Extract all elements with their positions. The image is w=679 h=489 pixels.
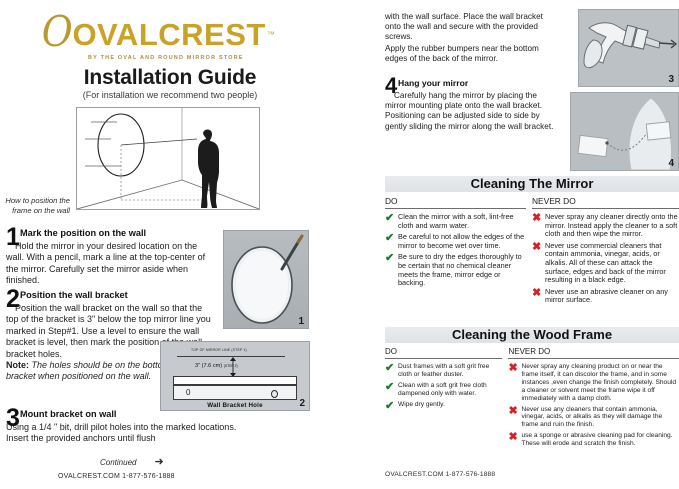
care-item: ✔ Clean the mirror with a soft, lint-fre… <box>385 213 526 230</box>
step-1-number: 1 <box>6 226 20 248</box>
care-mirror-do-column: DO ✔ Clean the mirror with a soft, lint-… <box>385 196 532 308</box>
step-4-body: Carefully hang the mirror by placing the… <box>385 91 557 132</box>
bracket-top-line-label: TOP OF MIRROR LINE (STEP 1) <box>191 348 247 352</box>
check-icon: ✔ <box>385 253 398 287</box>
trademark-icon: ™ <box>267 30 275 39</box>
care-mirror-never-label: NEVER DO <box>532 196 679 208</box>
bracket-dimension-value: 3" (7.6 cm) <box>195 363 222 369</box>
care-item: ✔ Be careful to not allow the edges of t… <box>385 233 526 250</box>
step-2-heading: Position the wall bracket <box>20 290 211 301</box>
care-item: ✔ Wipe dry gently. <box>385 401 502 411</box>
figure-1-svg <box>224 231 308 328</box>
care-mirror-never-column: NEVER DO ✖ Never spray any cleaner direc… <box>532 196 679 308</box>
figure-3-svg <box>579 10 678 86</box>
continued-text: Continued <box>100 458 136 467</box>
care-item: ✖ Never use any cleaners that contain am… <box>508 406 679 430</box>
step-4: 4 Hang your mirror Carefully hang the mi… <box>385 78 557 132</box>
care-item-text: Be sure to dry the edges thoroughly to b… <box>398 253 526 287</box>
care-item-text: use a sponge or abrasive cleaning pad fo… <box>521 432 679 448</box>
care-item: ✖ Never spray any cleaner directly onto … <box>532 213 679 239</box>
care-frame-title: Cleaning the Wood Frame <box>385 327 679 343</box>
care-item-text: Clean the mirror with a soft, lint-free … <box>398 213 526 230</box>
brand-logo: O OVALCREST ™ BY THE OVAL AND ROUND MIRR… <box>40 14 325 64</box>
figure-3-label: 3 <box>668 74 674 85</box>
care-item: ✖ Never spray any cleaning product on or… <box>508 363 679 403</box>
diagram-caption: How to position the frame on the wall <box>2 196 70 216</box>
check-icon: ✔ <box>385 233 398 250</box>
room-position-diagram <box>76 107 260 210</box>
figure-4-hang-mirror-photo: 4 <box>570 92 679 171</box>
cross-icon: ✖ <box>508 406 521 430</box>
step-1-heading: Mark the position on the wall <box>20 228 211 239</box>
check-icon: ✔ <box>385 363 398 379</box>
cross-icon: ✖ <box>508 432 521 448</box>
bracket-hole-caption: Wall Bracket Hole <box>173 402 297 409</box>
care-item-text: Dust frames with a soft grit free cloth … <box>398 363 502 379</box>
figure-4-label: 4 <box>668 158 674 169</box>
care-item: ✔ Dust frames with a soft grit free clot… <box>385 363 502 379</box>
bracket-hole-right-icon <box>271 390 278 398</box>
care-item: ✔ Clean with a soft grit free cloth damp… <box>385 382 502 398</box>
care-item: ✖ Never use an abrasive cleaner on any m… <box>532 288 679 305</box>
care-frame-do-column: DO ✔ Dust frames with a soft grit free c… <box>385 347 508 451</box>
figure-1-label: 1 <box>298 316 304 327</box>
step-2-note-label: Note: <box>6 360 29 370</box>
right-column: with the wall surface. Place the wall br… <box>385 0 679 489</box>
logo-wordmark: OVALCREST <box>72 19 265 50</box>
step-3: 3 Mount bracket on wall Using a 1/4 " bi… <box>6 409 256 445</box>
bracket-bar-bottom: 0 <box>173 385 297 400</box>
figure-4-svg <box>571 93 678 170</box>
page-title: Installation Guide <box>0 66 340 90</box>
figure-2-bracket-diagram: TOP OF MIRROR LINE (STEP 1) 3" (7.6 cm) … <box>160 341 310 411</box>
care-section-mirror: Cleaning The Mirror DO ✔ Clean the mirro… <box>385 176 679 308</box>
cross-icon: ✖ <box>532 288 545 305</box>
care-item: ✔ Be sure to dry the edges thoroughly to… <box>385 253 526 287</box>
bracket-hole-caption-text: Wall Bracket Hole <box>207 402 262 409</box>
arrow-right-icon: ➜ <box>154 455 163 468</box>
care-item-text: Never spray any cleaner directly onto th… <box>545 213 679 239</box>
bracket-dimension-step: (STEP 2) <box>224 364 238 368</box>
room-diagram-svg <box>77 108 259 209</box>
care-item-text: Never use an abrasive cleaner on any mir… <box>545 288 679 305</box>
check-icon: ✔ <box>385 401 398 411</box>
bracket-hole-left-icon: 0 <box>186 388 190 397</box>
logo-script-initial: O <box>42 12 73 52</box>
care-mirror-columns: DO ✔ Clean the mirror with a soft, lint-… <box>385 196 679 308</box>
cross-icon: ✖ <box>532 213 545 239</box>
logo-row: O OVALCREST ™ <box>40 14 325 54</box>
figure-2-inner: TOP OF MIRROR LINE (STEP 1) 3" (7.6 cm) … <box>165 346 305 406</box>
continued-label: Continued➜ <box>100 455 220 468</box>
page-subtitle: (For installation we recommend two peopl… <box>0 90 340 100</box>
care-mirror-do-label: DO <box>385 196 526 208</box>
step-3-body: Using a 1/4 " bit, drill pilot holes int… <box>6 422 256 445</box>
care-mirror-do-rule <box>385 208 526 209</box>
care-item-text: Never use commercial cleaners that conta… <box>545 242 679 285</box>
left-column: O OVALCREST ™ BY THE OVAL AND ROUND MIRR… <box>0 0 362 489</box>
step-1-body: Hold the mirror in your desired location… <box>6 241 211 287</box>
care-item: ✖ use a sponge or abrasive cleaning pad … <box>508 432 679 448</box>
step-4-number: 4 <box>385 76 397 96</box>
cross-icon: ✖ <box>532 242 545 285</box>
cross-icon: ✖ <box>508 363 521 403</box>
care-item-text: Clean with a soft grit free cloth dampen… <box>398 382 502 398</box>
care-item: ✖ Never use commercial cleaners that con… <box>532 242 679 285</box>
step-3-number: 3 <box>6 407 20 429</box>
right-paragraph-2: Apply the rubber bumpers near the bottom… <box>385 44 557 64</box>
bracket-dimension: 3" (7.6 cm) (STEP 2) <box>195 363 238 369</box>
care-section-wood-frame: Cleaning the Wood Frame DO ✔ Dust frames… <box>385 327 679 451</box>
check-icon: ✔ <box>385 382 398 398</box>
footer-left: OVALCREST.COM 1-877-576-1888 <box>58 473 175 480</box>
care-item-text: Wipe dry gently. <box>398 401 445 411</box>
care-frame-columns: DO ✔ Dust frames with a soft grit free c… <box>385 347 679 451</box>
step-4-heading: Hang your mirror <box>398 78 557 89</box>
care-frame-never-column: NEVER DO ✖ Never spray any cleaning prod… <box>508 347 679 451</box>
care-frame-never-label: NEVER DO <box>508 347 679 358</box>
care-frame-do-label: DO <box>385 347 502 358</box>
bracket-bar-top <box>173 376 297 385</box>
care-mirror-title: Cleaning The Mirror <box>385 176 679 192</box>
check-icon: ✔ <box>385 213 398 230</box>
care-mirror-never-rule <box>532 208 679 209</box>
care-frame-do-rule <box>385 358 502 359</box>
care-item-text: Never use any cleaners that contain ammo… <box>521 406 679 430</box>
care-item-text: Be careful to not allow the edges of the… <box>398 233 526 250</box>
figure-3-drill-photo: 3 <box>578 9 679 87</box>
step-2-number: 2 <box>6 288 20 310</box>
installation-guide-page: O OVALCREST ™ BY THE OVAL AND ROUND MIRR… <box>0 0 679 489</box>
footer-right: OVALCREST.COM 1-877-576-1888 <box>385 471 495 478</box>
logo-tagline: BY THE OVAL AND ROUND MIRROR STORE <box>88 55 325 61</box>
care-frame-never-rule <box>508 358 679 359</box>
care-item-text: Never spray any cleaning product on or n… <box>521 363 679 403</box>
step-1: 1 Mark the position on the wall Hold the… <box>6 228 211 287</box>
figure-1-mirror-photo: 1 <box>223 230 309 329</box>
figure-2-label: 2 <box>299 398 305 409</box>
right-paragraph-1: with the wall surface. Place the wall br… <box>385 12 557 43</box>
